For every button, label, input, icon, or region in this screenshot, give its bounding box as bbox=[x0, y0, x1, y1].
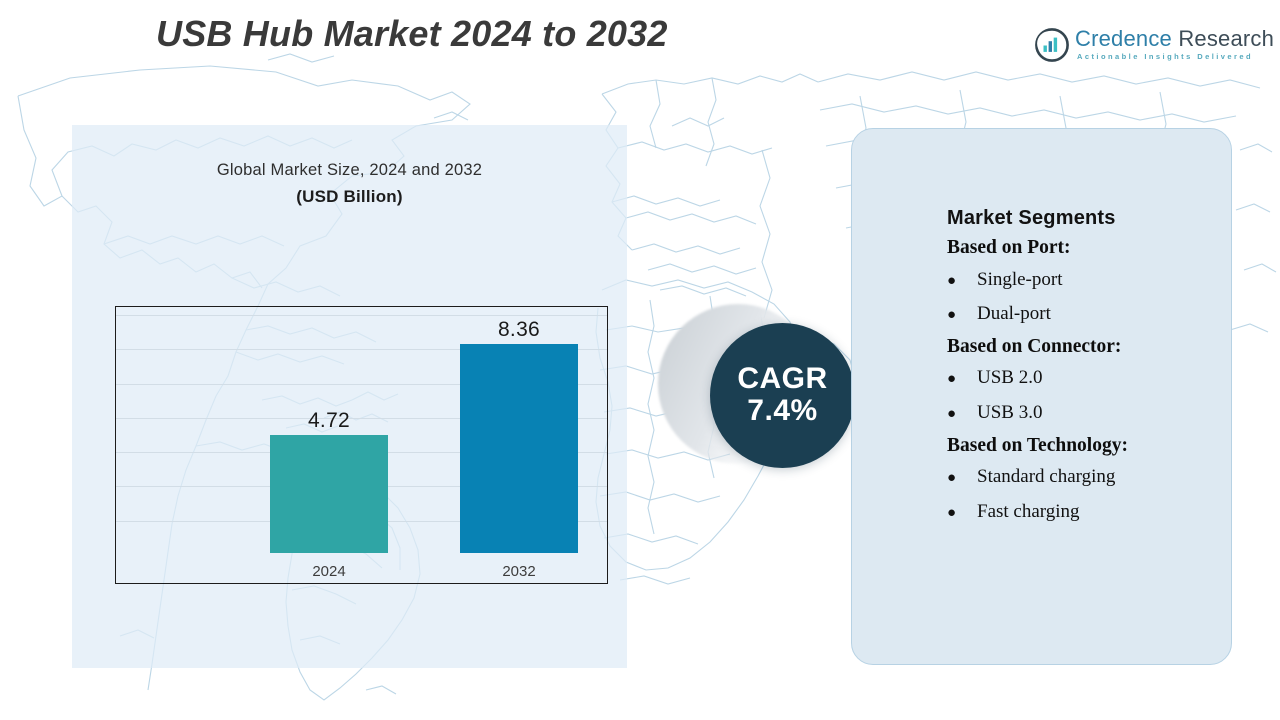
gridline bbox=[116, 315, 607, 316]
segment-item-label: Fast charging bbox=[977, 495, 1080, 530]
bar-category-label-2032: 2032 bbox=[430, 563, 608, 580]
bar-chart-circle-icon bbox=[1035, 28, 1069, 62]
page-title: USB Hub Market 2024 to 2032 bbox=[156, 13, 668, 55]
segment-group-title-2: Based on Technology: bbox=[947, 431, 1227, 461]
cagr-circle: CAGR 7.4% bbox=[710, 323, 855, 468]
segment-list-item: ●Single-port bbox=[947, 263, 1227, 298]
bullet-icon: ● bbox=[947, 366, 977, 393]
brand-tagline: Actionable Insights Delivered bbox=[1077, 52, 1253, 61]
segment-item-label: Single-port bbox=[977, 263, 1063, 298]
bar-2024 bbox=[270, 435, 388, 553]
segment-list-item: ●Fast charging bbox=[947, 495, 1227, 530]
bar-value-label-2024: 4.72 bbox=[240, 409, 418, 433]
segment-item-label: USB 2.0 bbox=[977, 361, 1042, 396]
brand-logo: Credence Research Actionable Insights De… bbox=[1035, 26, 1255, 74]
brand-name: Credence Research bbox=[1075, 26, 1274, 52]
chart-title-line2: (USD Billion) bbox=[72, 187, 627, 207]
segment-list-item: ●USB 2.0 bbox=[947, 361, 1227, 396]
cagr-value: 7.4% bbox=[747, 394, 817, 428]
segment-group-title-1: Based on Connector: bbox=[947, 332, 1227, 362]
segment-group-title-0: Based on Port: bbox=[947, 233, 1227, 263]
bullet-icon: ● bbox=[947, 500, 977, 527]
bar-chart-plot-area: 4.7220248.362032 bbox=[115, 306, 608, 584]
bar-2032 bbox=[460, 344, 578, 553]
infographic-canvas: USB Hub Market 2024 to 2032 Credence Res… bbox=[0, 0, 1280, 720]
cagr-label: CAGR bbox=[737, 363, 827, 395]
brand-name-part2: Research bbox=[1178, 26, 1274, 51]
chart-title-line1: Global Market Size, 2024 and 2032 bbox=[72, 161, 627, 180]
segment-list-item: ●USB 3.0 bbox=[947, 396, 1227, 431]
bullet-icon: ● bbox=[947, 465, 977, 492]
market-segments-heading: Market Segments bbox=[947, 207, 1116, 230]
cagr-badge: CAGR 7.4% bbox=[655, 300, 855, 495]
bullet-icon: ● bbox=[947, 268, 977, 295]
bullet-icon: ● bbox=[947, 302, 977, 329]
bullet-icon: ● bbox=[947, 401, 977, 428]
segment-list-item: ●Standard charging bbox=[947, 460, 1227, 495]
market-segments-panel: Market Segments Based on Port:●Single-po… bbox=[851, 128, 1232, 665]
segment-item-label: USB 3.0 bbox=[977, 396, 1042, 431]
bar-category-label-2024: 2024 bbox=[240, 563, 418, 580]
segment-item-label: Standard charging bbox=[977, 460, 1115, 495]
segment-list-item: ●Dual-port bbox=[947, 297, 1227, 332]
segment-item-label: Dual-port bbox=[977, 297, 1051, 332]
brand-name-part1: Credence bbox=[1075, 26, 1172, 51]
market-segments-list: Based on Port:●Single-port●Dual-portBase… bbox=[947, 233, 1227, 529]
chart-panel: Global Market Size, 2024 and 2032 (USD B… bbox=[72, 125, 627, 668]
bar-value-label-2032: 8.36 bbox=[430, 318, 608, 342]
